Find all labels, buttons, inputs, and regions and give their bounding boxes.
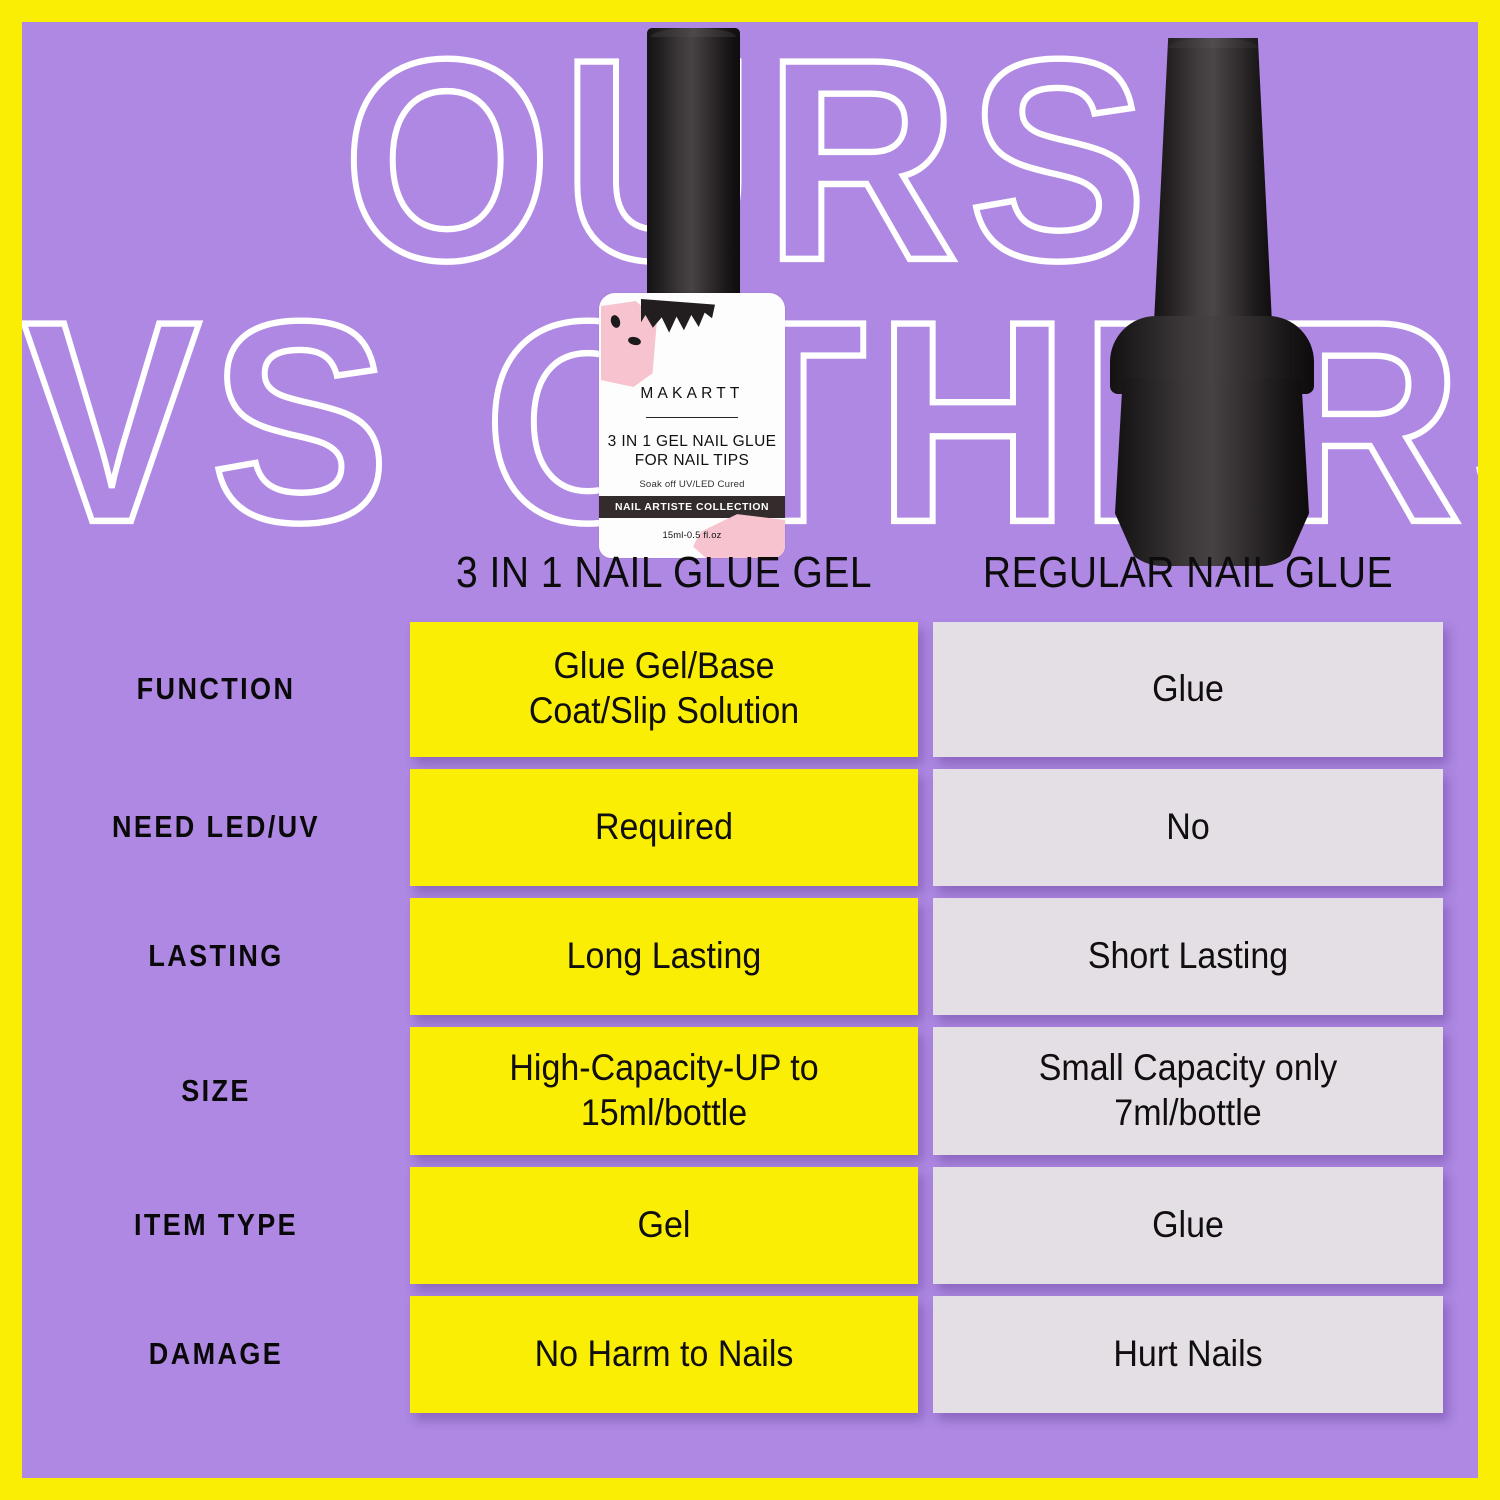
cell-other-size-text: Small Capacity only7ml/bottle <box>1039 1045 1338 1136</box>
cell-other-lasting: Short Lasting <box>933 898 1443 1015</box>
cell-ours-size: High-Capacity-UP to15ml/bottle <box>410 1027 918 1155</box>
row-label-need-led-uv: NEED LED/UV <box>22 762 410 893</box>
poster-frame: OURS VS OTHERS MAKARTT 3 IN 1 GEL NAIL G… <box>0 0 1500 1500</box>
table-row: LASTING Long Lasting Short Lasting <box>22 898 1478 1015</box>
column-header-other: REGULAR NAIL GLUE <box>933 549 1443 598</box>
cell-other-damage-text: Hurt Nails <box>1113 1332 1262 1378</box>
cell-ours-need-led-uv-text: Required <box>595 805 733 851</box>
label-collection-band: NAIL ARTISTE COLLECTION <box>599 496 785 518</box>
cell-other-function: Glue <box>933 622 1443 757</box>
row-label-function: FUNCTION <box>22 614 410 765</box>
cell-other-size: Small Capacity only7ml/bottle <box>933 1027 1443 1155</box>
row-label-item-type: ITEM TYPE <box>22 1160 410 1291</box>
cell-other-item-type-text: Glue <box>1152 1203 1224 1249</box>
gel-bottle-body: MAKARTT 3 IN 1 GEL NAIL GLUE FOR NAIL TI… <box>599 293 785 558</box>
table-row: DAMAGE No Harm to Nails Hurt Nails <box>22 1296 1478 1413</box>
cell-ours-need-led-uv: Required <box>410 769 918 886</box>
row-label-size: SIZE <box>22 1019 410 1162</box>
cell-ours-function-text: Glue Gel/BaseCoat/Slip Solution <box>529 644 799 735</box>
cell-ours-lasting: Long Lasting <box>410 898 918 1015</box>
cell-ours-lasting-text: Long Lasting <box>567 934 762 980</box>
cell-other-need-led-uv: No <box>933 769 1443 886</box>
column-header-ours: 3 IN 1 NAIL GLUE GEL <box>410 549 918 598</box>
product-image-regular-bottle <box>1082 38 1342 558</box>
label-subtitle: Soak off UV/LED Cured <box>599 479 785 490</box>
label-title-line-2: FOR NAIL TIPS <box>599 452 785 470</box>
cell-other-function-text: Glue <box>1152 667 1224 713</box>
label-collection-text: NAIL ARTISTE COLLECTION <box>615 502 769 513</box>
cell-ours-item-type-text: Gel <box>638 1203 691 1249</box>
regular-bottle-cap <box>1154 38 1272 323</box>
cell-ours-item-type: Gel <box>410 1167 918 1284</box>
table-row: ITEM TYPE Gel Glue <box>22 1167 1478 1284</box>
table-row: SIZE High-Capacity-UP to15ml/bottle Smal… <box>22 1027 1478 1155</box>
cell-ours-size-text: High-Capacity-UP to15ml/bottle <box>509 1045 818 1136</box>
table-row: FUNCTION Glue Gel/BaseCoat/Slip Solution… <box>22 622 1478 757</box>
row-label-lasting: LASTING <box>22 891 410 1022</box>
cell-ours-damage-text: No Harm to Nails <box>535 1332 794 1378</box>
brand-logo-text: MAKARTT <box>599 385 785 403</box>
row-label-damage: DAMAGE <box>22 1289 410 1420</box>
regular-bottle-body <box>1115 378 1309 566</box>
label-divider-rule <box>646 417 738 418</box>
cell-ours-function: Glue Gel/BaseCoat/Slip Solution <box>410 622 918 757</box>
poster-canvas: OURS VS OTHERS MAKARTT 3 IN 1 GEL NAIL G… <box>22 22 1478 1478</box>
cell-ours-damage: No Harm to Nails <box>410 1296 918 1413</box>
cell-other-lasting-text: Short Lasting <box>1088 934 1288 980</box>
cell-other-damage: Hurt Nails <box>933 1296 1443 1413</box>
cell-other-item-type: Glue <box>933 1167 1443 1284</box>
label-volume-text: 15ml-0.5 fl.oz <box>599 529 785 540</box>
cell-other-need-led-uv-text: No <box>1166 805 1209 851</box>
gel-bottle-cap <box>647 28 740 296</box>
table-row: NEED LED/UV Required No <box>22 769 1478 886</box>
product-image-gel-bottle: MAKARTT 3 IN 1 GEL NAIL GLUE FOR NAIL TI… <box>577 28 797 558</box>
label-title-line-1: 3 IN 1 GEL NAIL GLUE <box>599 433 785 451</box>
comparison-table: FUNCTION Glue Gel/BaseCoat/Slip Solution… <box>22 622 1478 1425</box>
